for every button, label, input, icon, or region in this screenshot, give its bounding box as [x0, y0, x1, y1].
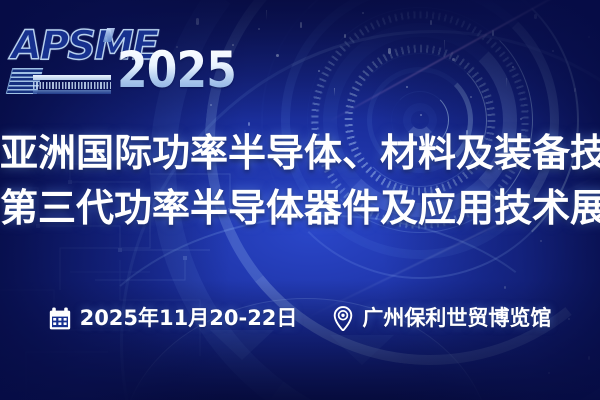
event-date-item: 2025年11月20-22日 — [49, 307, 298, 330]
event-venue-text: 广州保利世贸博览馆 — [362, 308, 551, 329]
secondary-title: 第三代功率半导体器件及应用技术展览会 — [0, 181, 600, 236]
calendar-icon — [49, 307, 71, 330]
logo-underbar — [33, 75, 111, 80]
event-banner: APSME 2025 亚洲国际功率半导体、材料及装备技术展览会 第三代功率半导体… — [0, 0, 600, 400]
event-info-bar: 2025年11月20-22日 广州保利世贸博览馆 — [0, 306, 600, 331]
logo-year: 2025 — [117, 45, 236, 95]
location-pin-icon — [333, 306, 353, 331]
title-block: 亚洲国际功率半导体、材料及装备技术展览会 第三代功率半导体器件及应用技术展览会 — [0, 126, 600, 236]
event-date-text: 2025年11月20-22日 — [80, 308, 298, 329]
logo-microtext-strip — [33, 82, 111, 89]
logo-microtext-shadow — [33, 90, 111, 94]
primary-title: 亚洲国际功率半导体、材料及装备技术展览会 — [0, 126, 600, 181]
event-venue-item: 广州保利世贸博览馆 — [333, 306, 551, 331]
apsme-logo[interactable]: APSME 2025 — [9, 26, 199, 98]
logo-mark: APSME — [9, 26, 115, 98]
